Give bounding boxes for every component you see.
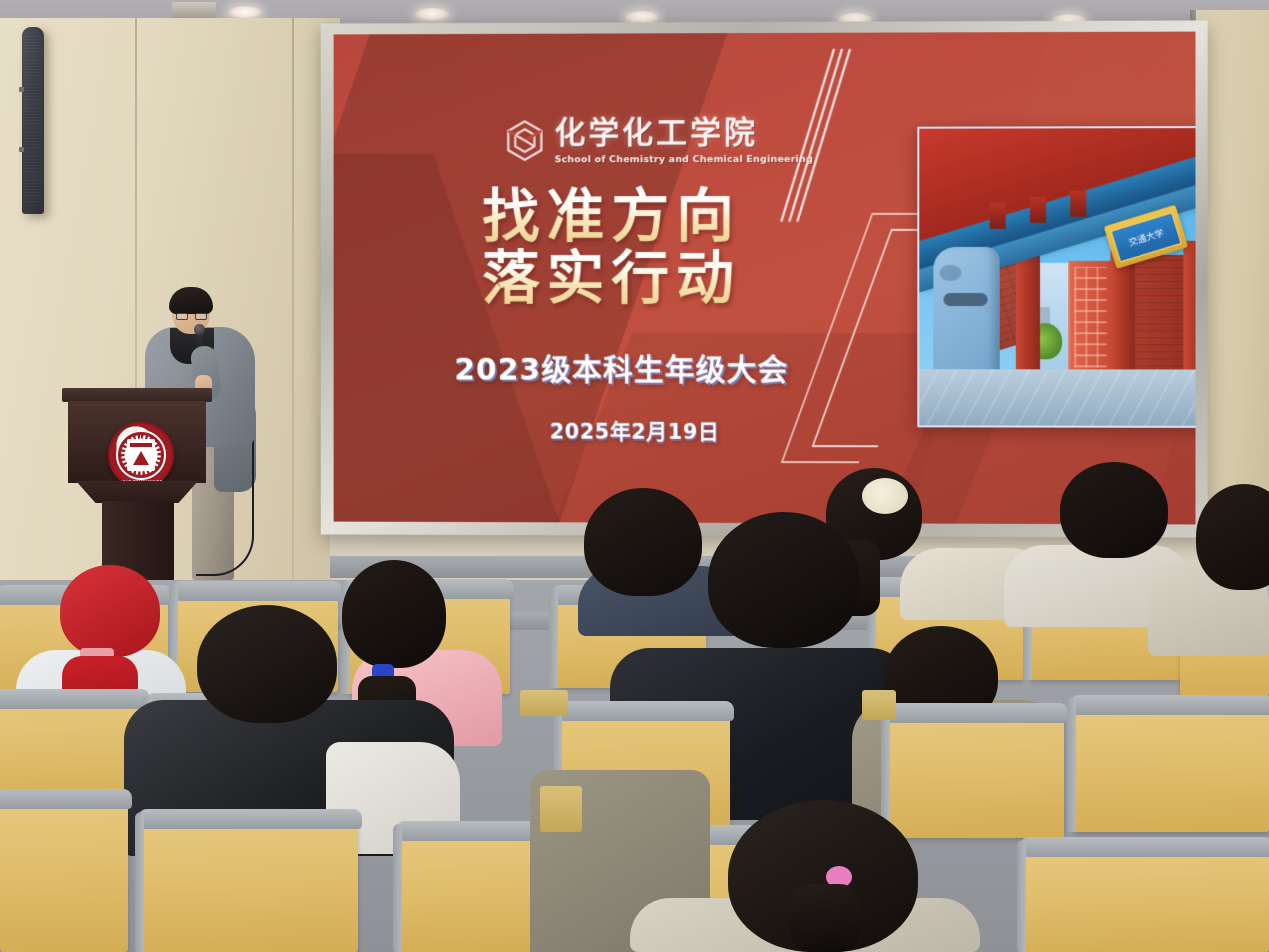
- speaker-bracket: [19, 147, 24, 152]
- photo-pillar: [1183, 241, 1195, 374]
- slide-title-line-1: 找准方向: [482, 185, 741, 247]
- auditorium-seat[interactable]: [1074, 706, 1269, 832]
- photo-pavement: [919, 369, 1195, 426]
- seat-side: [1017, 840, 1026, 952]
- photo-bracket: [990, 203, 1006, 229]
- auditorium-seat[interactable]: [1024, 848, 1269, 952]
- photo-door-studs: [1074, 267, 1106, 367]
- seat-side: [549, 588, 558, 688]
- presenter-hair: [169, 287, 213, 314]
- slide-title: 找准方向 落实行动: [482, 185, 741, 309]
- slide-logo: 化学化工学院 School of Chemistry and Chemical …: [504, 118, 813, 166]
- slide-date: 2025年2月19日: [550, 416, 720, 446]
- audience-member-head: [708, 512, 860, 648]
- university-emblem-icon: XI'AN JIAO TONG UNIVERSITY: [108, 422, 174, 488]
- ceiling-light: [415, 8, 449, 21]
- hair-scrunchie: [862, 478, 908, 514]
- seat-side: [393, 824, 402, 952]
- emblem-core: [127, 439, 155, 471]
- speaker-grille: [24, 33, 42, 202]
- photo-bracket: [1030, 197, 1046, 223]
- college-name-en: School of Chemistry and Chemical Enginee…: [555, 154, 813, 165]
- lectern-top: [62, 388, 212, 402]
- seat-cushion: [0, 789, 132, 809]
- seat-armrest: [520, 690, 568, 716]
- glasses-icon: [176, 313, 207, 320]
- lectern: XI'AN JIAO TONG UNIVERSITY: [62, 388, 212, 584]
- wall-seam: [292, 18, 294, 678]
- photo-bracket: [1070, 191, 1086, 217]
- audience-member-head: [342, 560, 446, 668]
- photo-gate-door: [1068, 261, 1110, 374]
- seat-side: [135, 812, 144, 952]
- projected-slide: 化学化工学院 School of Chemistry and Chemical …: [334, 32, 1196, 525]
- slide-photo-campus-gate: 交通大学: [917, 126, 1195, 428]
- slide-subtitle: 2023级本科生年级大会: [454, 345, 788, 389]
- seat-armrest: [540, 786, 582, 832]
- speaker-bracket: [19, 87, 24, 92]
- seat-cushion: [172, 581, 342, 601]
- seat-cushion: [396, 821, 552, 841]
- projection-screen-frame: 化学化工学院 School of Chemistry and Chemical …: [321, 20, 1208, 537]
- seat-cushion: [1020, 837, 1269, 857]
- college-name-cn: 化学化工学院: [555, 118, 813, 149]
- lectern-bevel: [76, 481, 198, 503]
- slide-title-line-2: 落实行动: [482, 247, 741, 309]
- wall-loudspeaker-icon: [22, 27, 44, 214]
- seat-side: [1067, 698, 1076, 832]
- hexagon-chemistry-logo-icon: [504, 118, 546, 164]
- seat-cushion: [884, 703, 1068, 723]
- seat-cushion: [1070, 695, 1269, 715]
- auditorium-seat[interactable]: [0, 800, 128, 952]
- auditorium-seat[interactable]: [400, 832, 548, 952]
- auditorium-seat[interactable]: [142, 820, 358, 952]
- seat-cushion: [556, 701, 734, 721]
- seat-cushion: [138, 809, 362, 829]
- lectern-face: XI'AN JIAO TONG UNIVERSITY: [68, 401, 206, 483]
- audience-member-head: [60, 565, 160, 657]
- audience-member-head: [197, 605, 337, 723]
- slide-logo-text: 化学化工学院 School of Chemistry and Chemical …: [555, 118, 813, 165]
- seat-cushion: [0, 689, 150, 709]
- audience-member-ponytail: [790, 884, 860, 952]
- auditorium-seat[interactable]: [888, 714, 1064, 838]
- audience-member-head: [1060, 462, 1168, 558]
- auditorium-photo: 化学化工学院 School of Chemistry and Chemical …: [0, 0, 1269, 952]
- audience-member-head: [584, 488, 702, 596]
- seat-armrest: [862, 690, 896, 720]
